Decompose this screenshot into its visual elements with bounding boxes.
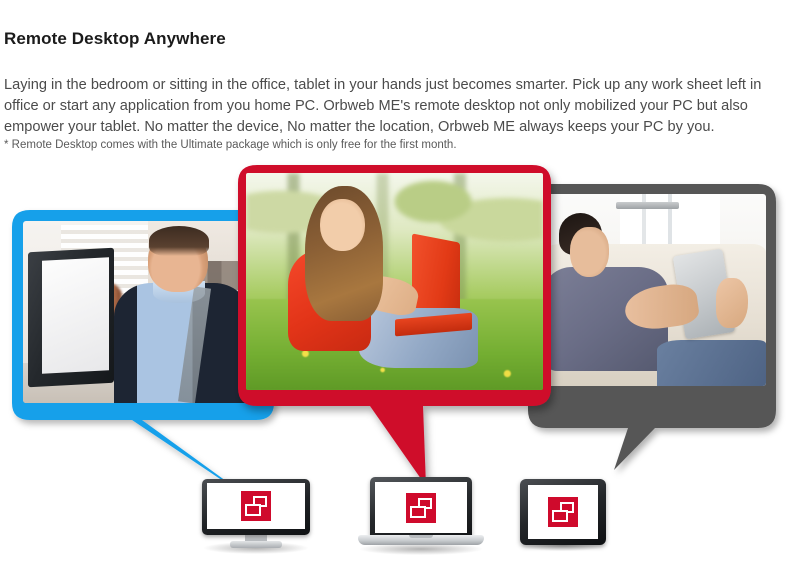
tablet-screen	[528, 485, 598, 539]
device-laptop	[358, 475, 484, 555]
laptop-screen	[375, 482, 467, 533]
body-paragraph: Laying in the bedroom or sitting in the …	[4, 75, 787, 138]
laptop-trackpad-notch	[409, 535, 433, 538]
illustration-stage	[0, 150, 787, 582]
monitor-bezel	[202, 479, 310, 535]
man-jeans	[657, 340, 766, 386]
orbweb-logo-icon	[241, 491, 271, 521]
remote-desktop-promo-page: Remote Desktop Anywhere Laying in the be…	[0, 0, 787, 582]
monitor-screen-in-photo	[42, 257, 109, 373]
man-hand	[716, 278, 748, 328]
device-tablet	[516, 475, 610, 553]
laptop-lid	[370, 477, 472, 537]
woman-face	[320, 199, 365, 251]
logo-front-window	[245, 504, 261, 516]
man-face	[570, 227, 609, 277]
orbweb-logo-icon	[406, 493, 436, 523]
device-desktop	[198, 477, 314, 555]
curtain-rod	[616, 202, 680, 210]
laptop-base	[358, 535, 484, 545]
monitor-screen	[207, 483, 305, 529]
speech-bubble-park	[230, 160, 560, 500]
logo-front-window	[410, 506, 426, 518]
tablet-body	[520, 479, 606, 545]
orbweb-logo-icon	[548, 497, 578, 527]
photo-man-with-tablet	[538, 194, 766, 386]
photo-man-at-office-desktop	[23, 221, 263, 403]
logo-front-window	[552, 510, 568, 522]
monitor-stand-base	[230, 541, 282, 548]
photo-woman-with-laptop-in-park	[246, 173, 543, 390]
man-hair	[149, 226, 209, 255]
page-title: Remote Desktop Anywhere	[4, 29, 226, 49]
